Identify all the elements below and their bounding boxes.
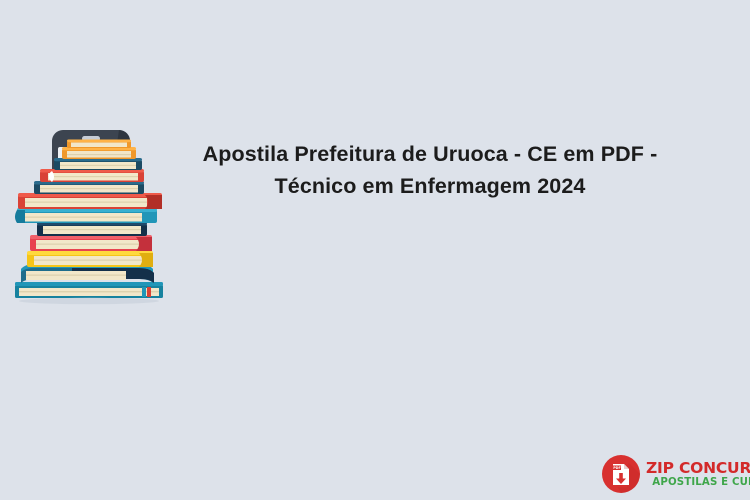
book-navy-mid <box>34 181 144 194</box>
logo-wordmark: ZIP CONCURSOS APOSTILAS E CURSOS <box>646 460 750 489</box>
stack-of-books-with-tablet-illustration <box>12 125 172 310</box>
book-teal-wide <box>15 208 157 223</box>
title-line-1: Apostila Prefeitura de Uruoca - CE em PD… <box>190 138 670 170</box>
logo-title: ZIP CONCURSOS <box>646 460 750 477</box>
banner-title: Apostila Prefeitura de Uruoca - CE em PD… <box>190 138 670 202</box>
book-crimson <box>30 235 152 251</box>
book-yellow <box>27 251 153 267</box>
book-navy-thin <box>54 158 142 170</box>
book-red-small <box>40 169 144 182</box>
pdf-download-glyph: PDF <box>601 454 641 494</box>
logo-subtitle: APOSTILAS E CURSOS <box>646 477 750 489</box>
book-bottom-teal <box>15 282 163 298</box>
ground-shadow <box>19 298 159 304</box>
book-top-orange <box>62 147 136 159</box>
book-top-thin-orange <box>67 140 131 149</box>
books-tablet-graphic <box>12 125 172 310</box>
promo-banner: Apostila Prefeitura de Uruoca - CE em PD… <box>0 0 750 500</box>
book-red-wide <box>18 193 162 209</box>
book-dark-navy <box>37 222 147 236</box>
pdf-download-icon: PDF <box>601 454 641 494</box>
title-line-2: Técnico em Enfermagem 2024 <box>190 170 670 202</box>
zip-concursos-logo[interactable]: PDF ZIP CONCURSOS APOSTILAS E CURSOS <box>601 452 741 496</box>
svg-text:PDF: PDF <box>613 466 621 470</box>
